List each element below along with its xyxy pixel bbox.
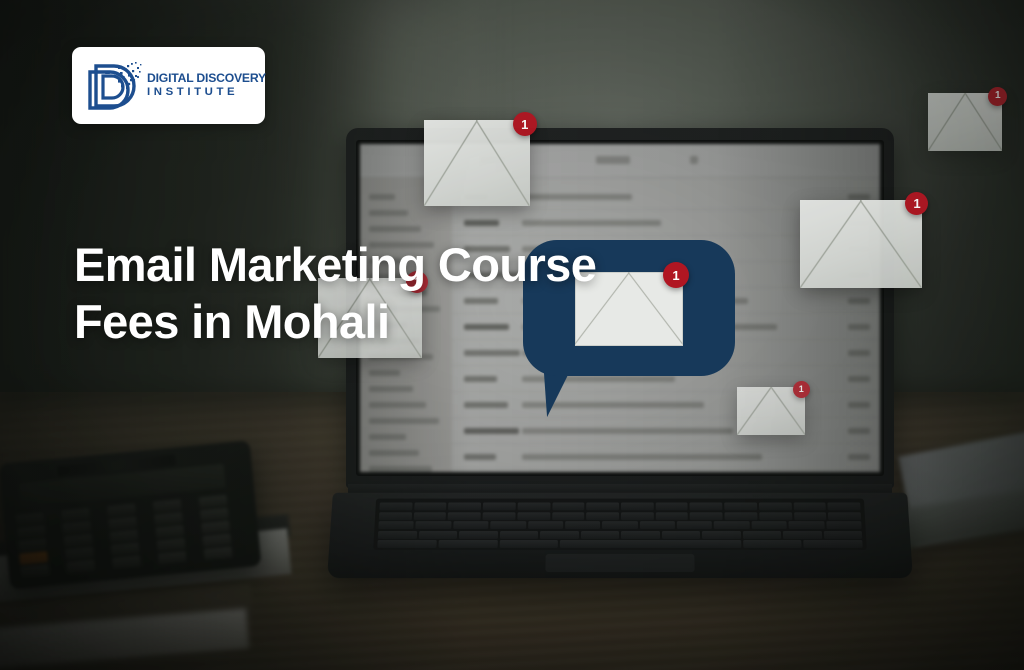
pixelated-d-monogram-icon (84, 58, 146, 114)
keyboard-key (416, 521, 452, 529)
inbox-sidebar-item (369, 466, 432, 472)
keyboard-key (823, 531, 862, 539)
keyboard-key (621, 531, 660, 539)
keyboard-key (483, 512, 516, 520)
calculator-key (63, 521, 92, 535)
message-date (848, 350, 870, 356)
envelope-right: 1 (800, 200, 922, 288)
message-date (848, 402, 870, 408)
message-date (848, 428, 870, 434)
envelope-icon (800, 200, 922, 288)
keyboard-key (661, 531, 700, 539)
calculator-key (154, 512, 183, 526)
keyboard-key (803, 540, 862, 548)
message-sender (464, 220, 499, 226)
calculator-key (65, 547, 94, 561)
calculator-key (200, 508, 229, 522)
inbox-sidebar-item (369, 194, 395, 200)
message-sender (464, 402, 508, 408)
keyboard-key (714, 521, 750, 529)
keyboard-key (759, 512, 792, 520)
keyboard-key (499, 531, 538, 539)
keyboard-key (677, 521, 712, 529)
keyboard-row (379, 502, 860, 510)
keyboard-key (499, 540, 558, 548)
calculator-key (17, 525, 46, 539)
inbox-message-row (452, 470, 880, 472)
keyboard-key (640, 521, 675, 529)
message-date (848, 454, 870, 460)
inbox-sidebar-item (369, 450, 419, 456)
message-sender (464, 376, 497, 382)
envelope-bottom-right: 1 (737, 387, 805, 435)
page-title-line2: Fees in Mohali (74, 293, 694, 350)
keyboard-key (517, 512, 550, 520)
inbox-sidebar-item (369, 386, 413, 392)
inbox-sidebar-item (369, 434, 406, 440)
calculator-key (66, 560, 95, 574)
calculator-key (107, 503, 136, 517)
message-date (848, 298, 870, 304)
keyboard-key (621, 540, 680, 548)
message-subject (522, 220, 661, 226)
message-sender (464, 350, 520, 356)
keyboard-key (655, 502, 688, 510)
keyboard-key (682, 540, 741, 548)
inbox-sidebar-item (369, 210, 408, 216)
keyboard-row (378, 521, 861, 529)
keyboard-key (828, 502, 861, 510)
inbox-message-row (452, 418, 880, 444)
calculator-key (202, 533, 231, 547)
laptop-trackpad (545, 554, 694, 572)
keyboard-key (528, 521, 563, 529)
keyboard-key (552, 512, 585, 520)
keyboard-key (517, 502, 550, 510)
keyboard-key (379, 512, 412, 520)
keyboard-key (826, 521, 862, 529)
inbox-sidebar-item (369, 226, 421, 232)
inbox-sidebar-item (369, 402, 426, 408)
keyboard-key (724, 502, 757, 510)
keyboard-row (377, 540, 862, 548)
keyboard-key (725, 512, 758, 520)
keyboard-key (742, 531, 781, 539)
calculator-key (15, 512, 44, 526)
calculator-key (20, 564, 49, 578)
keyboard-row (379, 512, 861, 520)
inbox-message-row (452, 444, 880, 470)
keyboard-key (690, 502, 723, 510)
brand-name-line2: INSTITUTE (147, 87, 266, 98)
calculator-key (199, 495, 228, 509)
keyboard-key (459, 531, 498, 539)
calculator-key (201, 521, 230, 535)
keyboard-key (690, 512, 723, 520)
brand-name-line1: DIGITAL DISCOVERY (147, 72, 266, 84)
desk-calculator (0, 440, 261, 590)
keyboard-key (379, 502, 412, 510)
calculator-key (153, 499, 182, 513)
calculator-key (111, 542, 140, 556)
hero-banner: 11111 1 (0, 0, 1024, 670)
keyboard-key (828, 512, 861, 520)
calculator-key (64, 534, 93, 548)
keyboard-key (759, 502, 792, 510)
brand-logo-card[interactable]: DIGITAL DISCOVERY INSTITUTE (72, 47, 265, 124)
keyboard-key (621, 502, 654, 510)
page-title: Email Marketing Course Fees in Mohali (74, 236, 694, 351)
calculator-key (61, 508, 90, 522)
keyboard-key (743, 540, 802, 548)
message-sender (464, 454, 496, 460)
laptop-keyboard (373, 499, 867, 550)
calculator-key (19, 551, 48, 565)
unread-badge: 1 (988, 87, 1007, 106)
keyboard-key (552, 502, 585, 510)
inbox-sidebar-item (369, 418, 439, 424)
keyboard-key (586, 502, 619, 510)
keyboard-key (580, 531, 619, 539)
keyboard-key (453, 521, 489, 529)
keyboard-key (656, 512, 689, 520)
brand-logo-text: DIGITAL DISCOVERY INSTITUTE (147, 72, 266, 99)
keyboard-key (702, 531, 741, 539)
keyboard-row (378, 531, 862, 539)
message-date (848, 324, 870, 330)
keyboard-key (414, 502, 447, 510)
calculator-key (204, 546, 233, 560)
keyboard-key (483, 502, 516, 510)
keyboard-key (413, 512, 446, 520)
keyboard-key (490, 521, 526, 529)
toolbar-chip (690, 156, 698, 164)
keyboard-key (751, 521, 787, 529)
calculator-key (18, 538, 47, 552)
envelope-top-right: 1 (928, 93, 1002, 151)
unread-badge: 1 (513, 112, 537, 136)
envelope-icon (424, 120, 530, 206)
keyboard-key (418, 531, 457, 539)
message-subject (522, 428, 733, 434)
keyboard-key (448, 502, 481, 510)
keyboard-key (438, 540, 497, 548)
calculator-key (108, 516, 137, 530)
envelope-top-center: 1 (424, 120, 530, 206)
toolbar-chip (596, 156, 630, 164)
calculator-key (110, 529, 139, 543)
keyboard-key (789, 521, 825, 529)
keyboard-key (377, 540, 436, 548)
keyboard-key (783, 531, 822, 539)
keyboard-key (602, 521, 637, 529)
laptop-base (327, 493, 913, 578)
message-subject (522, 194, 632, 200)
keyboard-key (565, 521, 600, 529)
message-subject (522, 454, 762, 460)
page-title-line1: Email Marketing Course (74, 238, 596, 291)
keyboard-key (793, 502, 826, 510)
calculator-key (112, 555, 141, 569)
calculator-key (158, 551, 187, 565)
message-date (848, 376, 870, 382)
keyboard-key (448, 512, 481, 520)
keyboard-key (378, 521, 414, 529)
keyboard-key (794, 512, 827, 520)
inbox-sidebar-item (369, 370, 400, 376)
keyboard-key (586, 512, 619, 520)
keyboard-key (540, 531, 579, 539)
calculator-key (157, 538, 186, 552)
calculator-key (155, 525, 184, 539)
message-sender (464, 428, 519, 434)
keyboard-key (378, 531, 417, 539)
keyboard-key (621, 512, 654, 520)
